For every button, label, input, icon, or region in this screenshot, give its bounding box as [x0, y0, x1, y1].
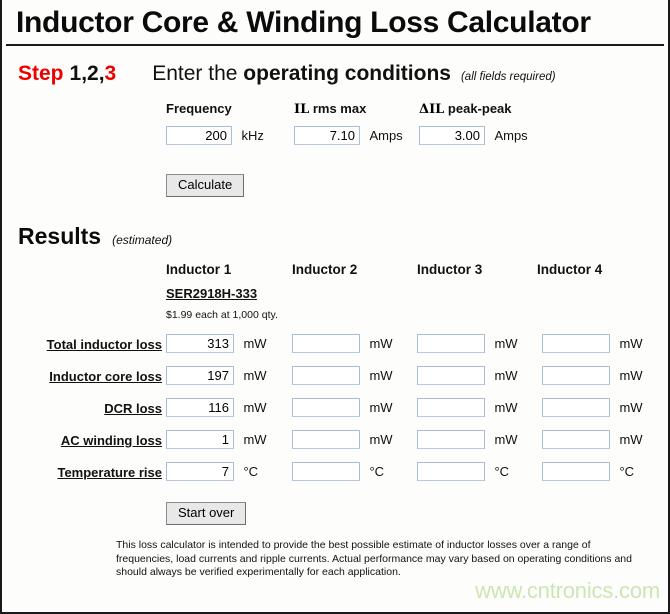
table-row: DCR loss mW mW mW mW: [2, 398, 668, 430]
core-loss-unit-2: mW: [369, 368, 392, 383]
dcr-loss-input-4[interactable]: [542, 398, 610, 417]
cell-temperature-rise-inductor-3: °C: [417, 462, 509, 481]
row-label-dcr-loss[interactable]: DCR loss: [6, 401, 162, 416]
results-title: Results: [18, 223, 101, 250]
temperature-rise-input-1[interactable]: [166, 462, 234, 481]
calculate-button[interactable]: Calculate: [166, 174, 244, 197]
temperature-rise-unit-2: °C: [369, 464, 384, 479]
il-rms-max-input[interactable]: [294, 126, 360, 145]
table-row: AC winding loss mW mW mW mW: [2, 430, 668, 462]
delta-il-peak-peak-unit: Amps: [494, 128, 527, 143]
dcr-loss-unit-3: mW: [494, 400, 517, 415]
cell-dcr-loss-inductor-4: mW: [542, 398, 643, 417]
temperature-rise-unit-4: °C: [619, 464, 634, 479]
cell-total-loss-inductor-1: mW: [166, 334, 267, 353]
field-delta-il-peak-peak: Amps: [419, 126, 528, 145]
ac-winding-loss-unit-3: mW: [494, 432, 517, 447]
condition-labels-row: Frequency IL rms max ΔIL peak-peak: [2, 100, 668, 122]
total-loss-unit-2: mW: [369, 336, 392, 351]
results-header: Results (estimated): [2, 223, 668, 250]
total-loss-unit-1: mW: [243, 336, 266, 351]
cell-core-loss-inductor-3: mW: [417, 366, 518, 385]
ac-winding-loss-input-3[interactable]: [417, 430, 485, 449]
results-subtitle: (estimated): [112, 233, 172, 247]
dcr-loss-unit-2: mW: [369, 400, 392, 415]
step-instruction-plain: Enter the: [152, 62, 243, 85]
start-over-button[interactable]: Start over: [166, 502, 246, 525]
cell-core-loss-inductor-4: mW: [542, 366, 643, 385]
cell-dcr-loss-inductor-1: mW: [166, 398, 267, 417]
core-loss-input-3[interactable]: [417, 366, 485, 385]
field-il-rms-max: Amps: [294, 126, 403, 145]
label-frequency: Frequency: [166, 100, 232, 118]
cell-total-loss-inductor-3: mW: [417, 334, 518, 353]
page-title: Inductor Core & Winding Loss Calculator: [16, 6, 668, 40]
total-loss-input-3[interactable]: [417, 334, 485, 353]
dcr-loss-unit-1: mW: [243, 400, 266, 415]
field-frequency: kHz: [166, 126, 264, 145]
all-fields-required-note: (all fields required): [461, 71, 556, 83]
step-numbers-black: 1,2,: [70, 62, 105, 85]
calculator-page: Inductor Core & Winding Loss Calculator …: [0, 0, 670, 614]
ac-winding-loss-input-4[interactable]: [542, 430, 610, 449]
cell-ac-winding-loss-inductor-3: mW: [417, 430, 518, 449]
core-loss-input-2[interactable]: [292, 366, 360, 385]
total-loss-input-4[interactable]: [542, 334, 610, 353]
table-row: Total inductor loss mW mW mW mW: [2, 334, 668, 366]
cell-core-loss-inductor-2: mW: [292, 366, 393, 385]
cell-temperature-rise-inductor-2: °C: [292, 462, 384, 481]
results-rows: Total inductor loss mW mW mW mW Inductor…: [2, 334, 668, 494]
total-loss-unit-3: mW: [494, 336, 517, 351]
core-loss-input-1[interactable]: [166, 366, 234, 385]
calculate-button-area: Calculate: [2, 174, 668, 197]
site-watermark: www.cntronics.com: [475, 578, 660, 604]
cell-ac-winding-loss-inductor-4: mW: [542, 430, 643, 449]
cell-total-loss-inductor-4: mW: [542, 334, 643, 353]
step-instruction-bold: operating conditions: [243, 62, 451, 85]
frequency-unit: kHz: [241, 128, 263, 143]
row-label-inductor-core-loss[interactable]: Inductor core loss: [6, 369, 162, 384]
step-word: Step: [18, 62, 64, 86]
dcr-loss-input-2[interactable]: [292, 398, 360, 417]
table-row: Temperature rise °C °C °C °C: [2, 462, 668, 494]
row-label-temperature-rise[interactable]: Temperature rise: [6, 465, 162, 480]
cell-temperature-rise-inductor-1: °C: [166, 462, 258, 481]
temperature-rise-input-3[interactable]: [417, 462, 485, 481]
label-frequency-text: Frequency: [166, 101, 232, 116]
part-number-link-inductor-1[interactable]: SER2918H-333: [166, 286, 257, 301]
table-row: Inductor core loss mW mW mW mW: [2, 366, 668, 398]
title-area: Inductor Core & Winding Loss Calculator: [2, 0, 668, 40]
cell-core-loss-inductor-1: mW: [166, 366, 267, 385]
cell-dcr-loss-inductor-2: mW: [292, 398, 393, 417]
core-loss-unit-4: mW: [619, 368, 642, 383]
total-loss-input-2[interactable]: [292, 334, 360, 353]
frequency-input[interactable]: [166, 126, 232, 145]
step-instruction: Enter the operating conditions: [152, 62, 451, 86]
step-header: Step 1,2,3 Enter the operating condition…: [2, 62, 668, 86]
cell-ac-winding-loss-inductor-2: mW: [292, 430, 393, 449]
total-loss-input-1[interactable]: [166, 334, 234, 353]
title-divider: [6, 44, 664, 46]
condition-inputs-row: kHz Amps Amps: [2, 126, 668, 150]
temperature-rise-input-2[interactable]: [292, 462, 360, 481]
label-il-rms-max: IL rms max: [294, 100, 366, 118]
column-header-inductor-3: Inductor 3: [417, 262, 482, 277]
total-loss-unit-4: mW: [619, 336, 642, 351]
part-price-inductor-1: $1.99 each at 1,000 qty.: [166, 309, 278, 321]
label-delta-il-peak-peak: ΔIL peak-peak: [419, 100, 512, 118]
cell-temperature-rise-inductor-4: °C: [542, 462, 634, 481]
disclaimer-text: This loss calculator is intended to prov…: [2, 539, 668, 580]
ac-winding-loss-input-1[interactable]: [166, 430, 234, 449]
results-column-headers: Inductor 1 SER2918H-333 $1.99 each at 1,…: [2, 262, 668, 334]
temperature-rise-unit-1: °C: [243, 464, 258, 479]
il-rms-max-unit: Amps: [369, 128, 402, 143]
column-header-inductor-4: Inductor 4: [537, 262, 602, 277]
label-il-rms-max-prefix: IL: [294, 102, 309, 117]
delta-il-peak-peak-input[interactable]: [419, 126, 485, 145]
row-label-total-inductor-loss[interactable]: Total inductor loss: [6, 337, 162, 352]
core-loss-input-4[interactable]: [542, 366, 610, 385]
temperature-rise-unit-3: °C: [494, 464, 509, 479]
core-loss-unit-1: mW: [243, 368, 266, 383]
cell-total-loss-inductor-2: mW: [292, 334, 393, 353]
column-header-inductor-2: Inductor 2: [292, 262, 357, 277]
ac-winding-loss-unit-4: mW: [619, 432, 642, 447]
label-delta-il-peak-peak-prefix: ΔIL: [419, 102, 444, 117]
label-delta-il-peak-peak-text: peak-peak: [444, 101, 511, 116]
label-il-rms-max-text: rms max: [309, 101, 366, 116]
dcr-loss-unit-4: mW: [619, 400, 642, 415]
cell-dcr-loss-inductor-3: mW: [417, 398, 518, 417]
temperature-rise-input-4[interactable]: [542, 462, 610, 481]
ac-winding-loss-unit-1: mW: [243, 432, 266, 447]
row-label-ac-winding-loss[interactable]: AC winding loss: [6, 433, 162, 448]
cell-ac-winding-loss-inductor-1: mW: [166, 430, 267, 449]
step-numbers-red: 3: [105, 62, 117, 85]
column-header-inductor-1: Inductor 1: [166, 262, 231, 277]
step-numbers: 1,2,3: [70, 62, 117, 86]
start-over-button-area: Start over: [2, 502, 668, 525]
ac-winding-loss-unit-2: mW: [369, 432, 392, 447]
dcr-loss-input-3[interactable]: [417, 398, 485, 417]
ac-winding-loss-input-2[interactable]: [292, 430, 360, 449]
dcr-loss-input-1[interactable]: [166, 398, 234, 417]
core-loss-unit-3: mW: [494, 368, 517, 383]
